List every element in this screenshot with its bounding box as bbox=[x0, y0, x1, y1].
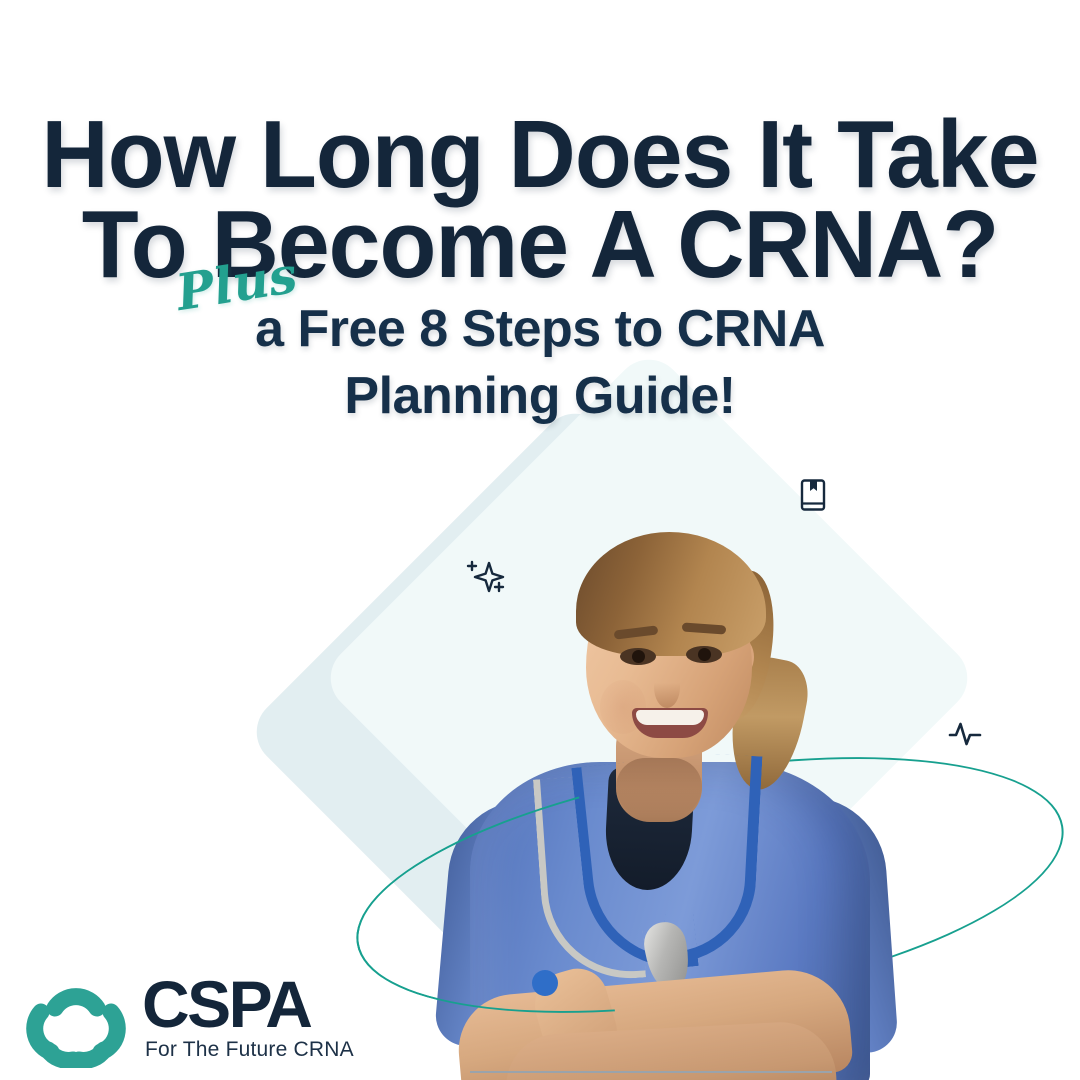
pulse-icon bbox=[948, 719, 982, 754]
cspa-logo-mark-icon bbox=[24, 968, 128, 1068]
hair-top bbox=[576, 532, 766, 656]
stethoscope-clip bbox=[532, 970, 558, 996]
page-title: How Long Does It Take To Become A CRNA? bbox=[16, 110, 1064, 289]
bottom-divider bbox=[470, 1071, 832, 1073]
subtitle-text: a Free 8 Steps to CRNA Planning Guide! bbox=[0, 296, 1080, 429]
pupil-left bbox=[632, 650, 645, 663]
subtitle-block: a Free 8 Steps to CRNA Planning Guide! bbox=[0, 296, 1080, 429]
sparkle-icon bbox=[464, 556, 506, 603]
poster-canvas: How Long Does It Take To Become A CRNA? … bbox=[0, 0, 1080, 1080]
cspa-logo[interactable]: CSPA For The Future CRNA bbox=[24, 968, 354, 1068]
cspa-wordmark: CSPA bbox=[142, 974, 354, 1035]
pupil-right bbox=[698, 648, 711, 661]
nose bbox=[654, 666, 680, 708]
teeth bbox=[636, 710, 704, 725]
book-icon bbox=[798, 478, 828, 517]
cspa-logo-text: CSPA For The Future CRNA bbox=[142, 974, 354, 1062]
cspa-tagline: For The Future CRNA bbox=[142, 1038, 354, 1062]
